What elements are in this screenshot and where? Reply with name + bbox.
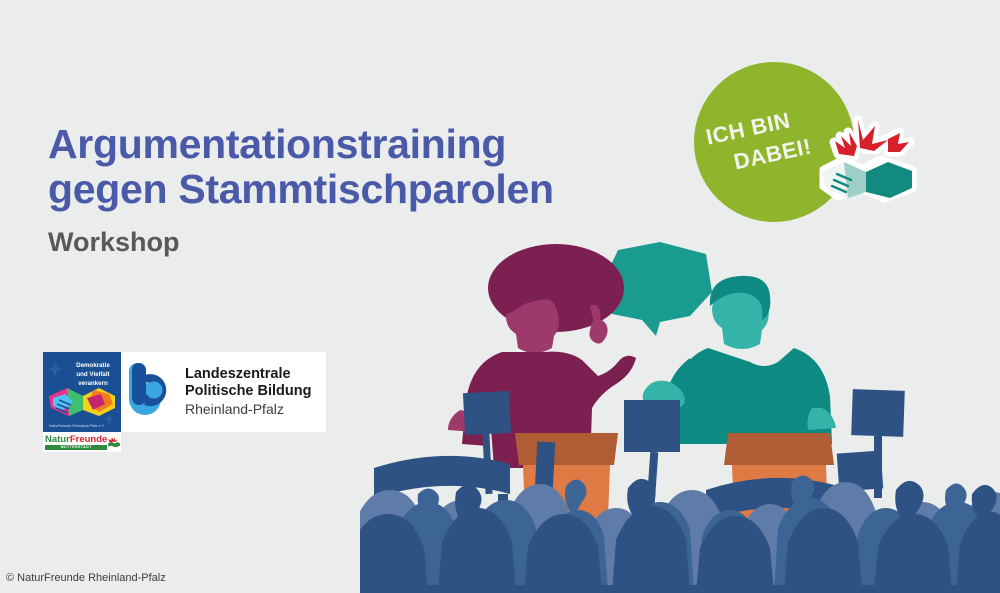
naturfreunde-blue-card: Demokratie und Vielfalt verankern NaturF… [43, 352, 121, 432]
landeszentrale-line-3: Rheinland-Pfalz [185, 400, 311, 418]
landeszentrale-text: Landeszentrale Politische Bildung Rheinl… [185, 366, 311, 418]
ground-bar [360, 585, 1000, 593]
headline-block: Argumentationstraining gegen Stammtischp… [48, 122, 608, 258]
poster-canvas: Argumentationstraining gegen Stammtischp… [0, 0, 1000, 593]
naturfreunde-small-emblem-icon [107, 434, 121, 450]
naturfreunde-wordmark: NaturFreunde MUTTERSTADT [43, 435, 107, 450]
sponsor-logo-strip: Demokratie und Vielfalt verankern NaturF… [43, 352, 326, 452]
debate-podium-crowd-illustration [360, 240, 1000, 593]
copyright-credit: © NaturFreunde Rheinland-Pfalz [6, 571, 166, 585]
naturfreunde-logo: Demokratie und Vielfalt verankern NaturF… [43, 352, 121, 452]
naturfreunde-handshake-emblem-icon [814, 108, 922, 216]
page-title-line-1: Argumentationstraining [48, 122, 608, 167]
naturfreunde-card-caption: NaturFreunde Rheinland-Pfalz e.V. [49, 423, 118, 429]
landeszentrale-logo: Landeszentrale Politische Bildung Rheinl… [121, 352, 326, 432]
naturfreunde-wordmark-part-1: Natur [45, 434, 70, 445]
landeszentrale-line-1: Landeszentrale [185, 366, 311, 383]
lpb-b-mark-icon [129, 359, 179, 425]
naturfreunde-wordmark-bar: NaturFreunde MUTTERSTADT [43, 432, 121, 452]
landeszentrale-line-2: Politische Bildung [185, 383, 311, 400]
naturfreunde-wordmark-part-2: Freunde [70, 434, 107, 445]
naturfreunde-wordmark-sub: MUTTERSTADT [45, 445, 107, 450]
naturfreunde-slogan: Demokratie und Vielfalt verankern [70, 361, 116, 388]
page-title-line-2: gegen Stammtischparolen [48, 167, 608, 212]
ich-bin-dabei-badge: ICH BIN DABEI! [694, 62, 854, 222]
